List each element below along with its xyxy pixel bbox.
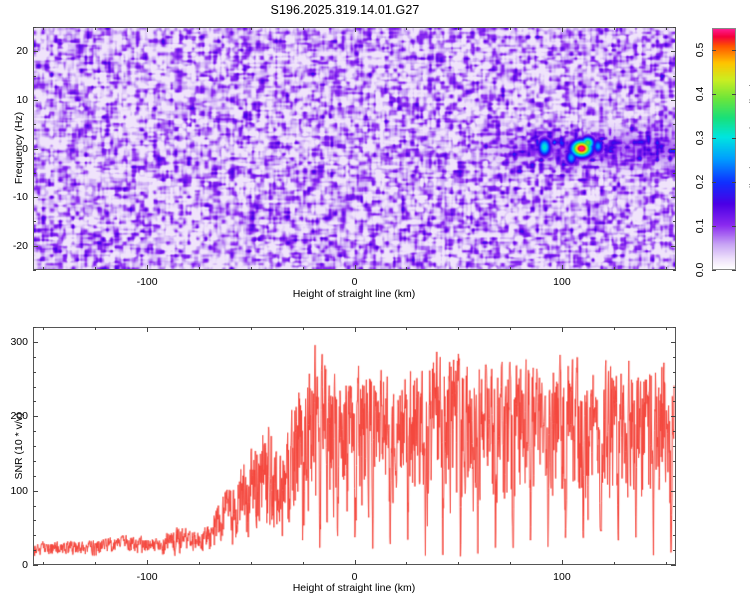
colorbar-tick-right (732, 94, 736, 95)
x-major-tick (355, 265, 356, 270)
y-minor-tick (33, 357, 36, 358)
y-tick-label: 300 (3, 336, 28, 348)
x-minor-tick-top (199, 327, 200, 330)
colorbar-tick-label: 0.3 (694, 131, 706, 146)
x-tick-label: 0 (352, 276, 358, 288)
spectrogram-y-axis-label: Frequency (Hz) (13, 112, 25, 184)
y-tick-label: 100 (3, 485, 28, 497)
y-minor-tick-right (673, 431, 676, 432)
colorbar-tick (712, 226, 716, 227)
x-minor-tick (43, 267, 44, 270)
y-minor-tick (33, 27, 36, 28)
y-major-tick (33, 565, 38, 566)
y-minor-tick-right (673, 550, 676, 551)
x-minor-tick-top (251, 27, 252, 30)
y-minor-tick (33, 76, 36, 77)
y-major-tick (33, 246, 38, 247)
y-minor-tick-right (673, 446, 676, 447)
y-major-tick-right (671, 246, 676, 247)
x-major-tick (355, 560, 356, 565)
y-major-tick-right (671, 51, 676, 52)
colorbar-tick (712, 182, 716, 183)
y-minor-tick-right (673, 535, 676, 536)
y-minor-tick-right (673, 476, 676, 477)
x-minor-tick-top (303, 327, 304, 330)
x-minor-tick-top (43, 327, 44, 330)
x-minor-tick-top (95, 27, 96, 30)
y-minor-tick-right (673, 461, 676, 462)
y-major-tick (33, 100, 38, 101)
snr-y-axis-label: SNR (10 * v/v) (13, 412, 25, 479)
y-tick-label: 10 (3, 94, 28, 106)
colorbar-tick (712, 50, 716, 51)
x-minor-tick (95, 267, 96, 270)
x-major-tick-top (355, 327, 356, 332)
x-minor-tick-top (458, 327, 459, 330)
y-minor-tick (33, 270, 36, 271)
figure-root: S196.2025.319.14.01.G27 -1000100-20-1001… (0, 0, 750, 600)
colorbar-tick (712, 94, 716, 95)
x-minor-tick (43, 562, 44, 565)
y-minor-tick-right (673, 27, 676, 28)
y-minor-tick (33, 535, 36, 536)
y-major-tick-right (671, 197, 676, 198)
x-minor-tick (614, 562, 615, 565)
x-minor-tick (199, 562, 200, 565)
colorbar-tick-label: 0.5 (694, 43, 706, 58)
spectrogram-x-axis-label: Height of straight line (km) (293, 288, 416, 300)
snr-x-axis-label: Height of straight line (km) (293, 582, 416, 594)
x-minor-tick (666, 267, 667, 270)
y-minor-tick (33, 506, 36, 507)
y-major-tick-right (671, 491, 676, 492)
y-major-tick-right (671, 149, 676, 150)
colorbar-tick-right (732, 50, 736, 51)
x-minor-tick-top (303, 27, 304, 30)
y-minor-tick (33, 431, 36, 432)
y-minor-tick-right (673, 387, 676, 388)
x-tick-label: -100 (137, 276, 158, 288)
y-major-tick (33, 342, 38, 343)
x-minor-tick-top (510, 27, 511, 30)
y-minor-tick (33, 173, 36, 174)
spectrogram-canvas (34, 28, 675, 269)
y-minor-tick (33, 221, 36, 222)
x-minor-tick-top (510, 327, 511, 330)
colorbar-tick-label: 0.1 (694, 219, 706, 234)
x-minor-tick (406, 562, 407, 565)
y-minor-tick-right (673, 124, 676, 125)
y-major-tick (33, 149, 38, 150)
x-minor-tick (510, 562, 511, 565)
colorbar-gradient (713, 29, 735, 269)
x-minor-tick-top (43, 27, 44, 30)
x-minor-tick (458, 267, 459, 270)
y-minor-tick-right (673, 76, 676, 77)
x-minor-tick (303, 267, 304, 270)
y-minor-tick-right (673, 327, 676, 328)
x-minor-tick (406, 267, 407, 270)
y-minor-tick (33, 327, 36, 328)
y-minor-tick (33, 520, 36, 521)
colorbar-tick (712, 270, 716, 271)
x-minor-tick (199, 267, 200, 270)
colorbar-tick-right (732, 226, 736, 227)
y-minor-tick-right (673, 221, 676, 222)
y-minor-tick (33, 461, 36, 462)
y-minor-tick-right (673, 173, 676, 174)
y-minor-tick (33, 446, 36, 447)
x-major-tick (147, 265, 148, 270)
x-minor-tick (458, 562, 459, 565)
y-tick-label: 0 (3, 559, 28, 571)
y-minor-tick (33, 401, 36, 402)
x-tick-label: 100 (553, 276, 571, 288)
y-minor-tick-right (673, 506, 676, 507)
y-minor-tick (33, 550, 36, 551)
x-minor-tick (666, 562, 667, 565)
x-tick-label: 100 (553, 571, 571, 583)
x-major-tick-top (562, 327, 563, 332)
y-tick-label: -20 (3, 240, 28, 252)
x-minor-tick-top (406, 327, 407, 330)
colorbar (712, 28, 736, 270)
x-minor-tick-top (251, 327, 252, 330)
x-minor-tick (303, 562, 304, 565)
y-minor-tick-right (673, 270, 676, 271)
x-minor-tick-top (199, 27, 200, 30)
y-minor-tick (33, 476, 36, 477)
y-major-tick-right (671, 100, 676, 101)
y-major-tick (33, 51, 38, 52)
y-major-tick (33, 197, 38, 198)
x-major-tick (562, 265, 563, 270)
y-minor-tick-right (673, 520, 676, 521)
y-minor-tick (33, 372, 36, 373)
x-major-tick (147, 560, 148, 565)
colorbar-tick (712, 138, 716, 139)
x-minor-tick (251, 562, 252, 565)
y-tick-label: -10 (3, 191, 28, 203)
snr-canvas (34, 328, 675, 564)
y-major-tick-right (671, 565, 676, 566)
x-minor-tick-top (406, 27, 407, 30)
colorbar-tick-right (732, 138, 736, 139)
x-minor-tick (95, 562, 96, 565)
x-major-tick-top (147, 327, 148, 332)
x-minor-tick-top (666, 327, 667, 330)
x-minor-tick (510, 267, 511, 270)
y-minor-tick-right (673, 401, 676, 402)
colorbar-tick-right (732, 182, 736, 183)
colorbar-tick-label: 0.4 (694, 87, 706, 102)
x-minor-tick-top (666, 27, 667, 30)
x-minor-tick-top (614, 327, 615, 330)
x-major-tick-top (355, 27, 356, 32)
figure-title: S196.2025.319.14.01.G27 (0, 3, 690, 17)
colorbar-tick-right (732, 270, 736, 271)
colorbar-tick-label: 0.0 (694, 263, 706, 278)
snr-plot-area (33, 327, 676, 565)
x-minor-tick-top (458, 27, 459, 30)
y-minor-tick-right (673, 372, 676, 373)
x-minor-tick-top (614, 27, 615, 30)
y-major-tick (33, 491, 38, 492)
x-major-tick-top (147, 27, 148, 32)
x-tick-label: -100 (137, 571, 158, 583)
y-minor-tick (33, 387, 36, 388)
x-minor-tick (251, 267, 252, 270)
x-major-tick-top (562, 27, 563, 32)
spectrogram-plot-area (33, 27, 676, 270)
y-minor-tick-right (673, 357, 676, 358)
x-major-tick (562, 560, 563, 565)
colorbar-tick-label: 0.2 (694, 175, 706, 190)
y-major-tick-right (671, 416, 676, 417)
y-tick-label: 20 (3, 45, 28, 57)
x-minor-tick-top (95, 327, 96, 330)
y-major-tick (33, 416, 38, 417)
x-minor-tick (614, 267, 615, 270)
y-minor-tick (33, 124, 36, 125)
y-major-tick-right (671, 342, 676, 343)
